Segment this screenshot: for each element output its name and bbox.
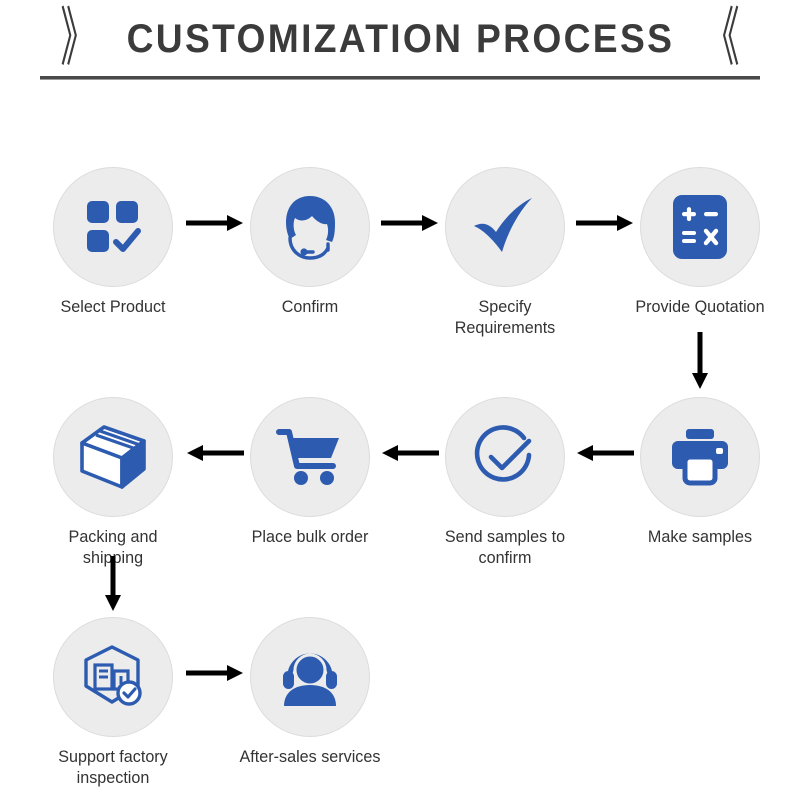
arrow-step5-to-step6 [576, 443, 634, 463]
step-label: After-sales services [234, 746, 386, 767]
process-step-place-bulk-order[interactable]: Place bulk order [230, 397, 390, 547]
arrow-step1-to-step2 [186, 213, 244, 233]
package-box-icon [78, 423, 148, 491]
step-label: Make samples [624, 526, 776, 547]
process-step-support-factory-inspection[interactable]: Support factory inspection [33, 617, 193, 788]
arrow-step9-to-step10 [186, 663, 244, 683]
step-icon-circle [250, 617, 370, 737]
process-step-make-samples[interactable]: Make samples [620, 397, 780, 547]
process-step-packing-and-shipping[interactable]: Packing and shipping [33, 397, 193, 568]
step-icon-circle [53, 617, 173, 737]
printer-icon [666, 427, 734, 487]
arrow-step7-to-step8 [186, 443, 244, 463]
step-label: Provide Quotation [624, 296, 776, 317]
arrow-step3-to-step4 [576, 213, 634, 233]
process-step-confirm[interactable]: Confirm [230, 167, 390, 317]
step-icon-circle [445, 167, 565, 287]
process-step-specify-requirements[interactable]: Specify Requirements [425, 167, 585, 338]
checkmark-icon [470, 194, 540, 260]
step-label: Send samples to confirm [429, 526, 581, 568]
process-step-after-sales-services[interactable]: After-sales services [230, 617, 390, 767]
process-step-select-product[interactable]: Select Product [33, 167, 193, 317]
step-icon-circle [640, 397, 760, 517]
step-icon-circle [445, 397, 565, 517]
step-label: Support factory inspection [37, 746, 189, 788]
process-step-provide-quotation[interactable]: Provide Quotation [620, 167, 780, 317]
process-step-send-samples-to-confirm[interactable]: Send samples to confirm [425, 397, 585, 568]
step-label: Specify Requirements [429, 296, 581, 338]
shopping-cart-icon [276, 426, 344, 488]
check-circle-icon [472, 424, 538, 490]
step-label: Select Product [37, 296, 189, 317]
step-icon-circle [250, 397, 370, 517]
step-icon-circle [53, 397, 173, 517]
step-icon-circle [640, 167, 760, 287]
calculator-icon [671, 193, 729, 261]
support-person-icon [276, 646, 344, 708]
step-label: Confirm [234, 296, 386, 317]
arrow-step4-to-step5 [690, 332, 710, 390]
step-label: Place bulk order [234, 526, 386, 547]
headset-agent-icon [277, 192, 343, 262]
arrow-step8-to-step9 [103, 556, 123, 612]
process-flow: Select Product Confirm Specify Requireme… [0, 0, 800, 800]
factory-quality-icon [79, 644, 147, 710]
arrow-step2-to-step3 [381, 213, 439, 233]
step-icon-circle [53, 167, 173, 287]
grid-check-icon [81, 195, 145, 259]
arrow-step6-to-step7 [381, 443, 439, 463]
step-icon-circle [250, 167, 370, 287]
